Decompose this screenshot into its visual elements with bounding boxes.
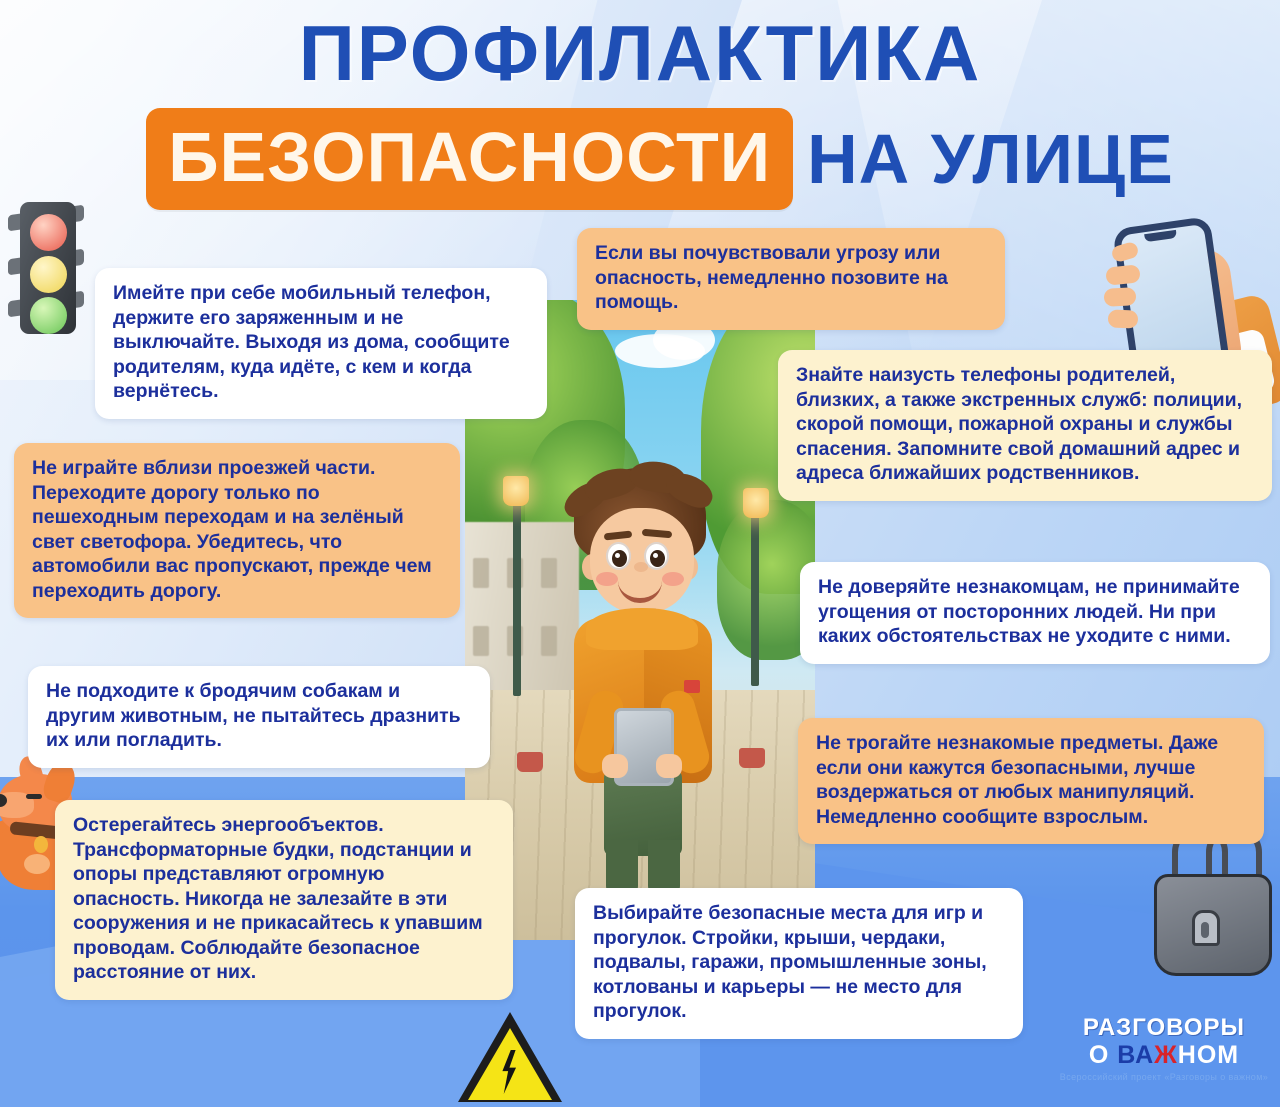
headline-line-2: БЕЗОПАСНОСТИ НА УЛИЦЕ [0, 108, 1280, 210]
street-lamp-icon [751, 496, 759, 686]
tip-text: Выбирайте безопасные места для игр и про… [593, 901, 1005, 1024]
tip-text: Не играйте вблизи проезжей части. Перехо… [32, 456, 442, 603]
hand [656, 754, 682, 778]
traffic-light-green-lamp [30, 297, 67, 334]
tip-card-strangers: Не доверяйте незнакомцам, не принимайте … [800, 562, 1270, 664]
traffic-light-red-lamp [30, 214, 67, 251]
tip-text: Знайте наизусть телефоны родителей, близ… [796, 363, 1254, 486]
nose [634, 562, 648, 572]
tip-card-emergency-numbers: Знайте наизусть телефоны родителей, близ… [778, 350, 1272, 501]
tip-text: Имейте при себе мобильный телефон, держи… [113, 281, 529, 404]
flower-pot [517, 752, 543, 772]
street-lamp-icon [513, 486, 521, 696]
traffic-light-icon [2, 196, 94, 338]
logo-word-nom: НОМ [1178, 1041, 1239, 1069]
tip-text: Не трогайте незнакомые предметы. Даже ес… [816, 731, 1246, 829]
tip-card-safe-places: Выбирайте безопасные места для игр и про… [575, 888, 1023, 1039]
electrical-hazard-icon [458, 1012, 562, 1104]
program-logo: РАЗГОВОРЫ О ВАЖНОМ Всероссийский проект … [1058, 1016, 1270, 1082]
logo-word-o: О [1089, 1041, 1117, 1069]
boy-character-illustration [556, 468, 726, 898]
headline-badge-safety: БЕЗОПАСНОСТИ [146, 108, 793, 210]
tip-card-unknown-objects: Не трогайте незнакомые предметы. Даже ес… [798, 718, 1264, 844]
headline-suffix: НА УЛИЦЕ [807, 124, 1174, 194]
handbag-icon [1144, 828, 1276, 978]
tip-text: Не доверяйте незнакомцам, не принимайте … [818, 575, 1252, 649]
cheek-blush [596, 572, 618, 586]
logo-tagline: Всероссийский проект «Разговоры о важном… [1058, 1073, 1270, 1082]
lamp-glow [503, 476, 529, 506]
headline-line-1: ПРОФИЛАКТИКА [0, 14, 1280, 92]
jacket-patch [684, 680, 700, 693]
logo-word-va: ВА [1117, 1041, 1154, 1069]
logo-word-zh: Ж [1154, 1041, 1178, 1069]
tip-text: Остерегайтесь энергообъектов. Трансформа… [73, 813, 495, 985]
tip-card-call-for-help: Если вы почувствовали угрозу или опаснос… [577, 228, 1005, 330]
logo-line-1: РАЗГОВОРЫ [1058, 1016, 1270, 1040]
cheek-blush [662, 572, 684, 586]
hand [602, 754, 628, 778]
poster-canvas: ПРОФИЛАКТИКА БЕЗОПАСНОСТИ НА УЛИЦЕ Имейт… [0, 0, 1280, 1107]
tip-text: Не подходите к бродячим собакам и другим… [46, 679, 472, 753]
logo-line-2: О ВАЖНОМ [1058, 1043, 1270, 1068]
traffic-light-yellow-lamp [30, 256, 67, 293]
poster-headline: ПРОФИЛАКТИКА БЕЗОПАСНОСТИ НА УЛИЦЕ [0, 14, 1280, 210]
tip-card-mobile-phone: Имейте при себе мобильный телефон, держи… [95, 268, 547, 419]
tip-card-stray-animals: Не подходите к бродячим собакам и другим… [28, 666, 490, 768]
tip-card-energy-objects: Остерегайтесь энергообъектов. Трансформа… [55, 800, 513, 1000]
eye [606, 542, 631, 570]
tip-card-road-crossing: Не играйте вблизи проезжей части. Перехо… [14, 443, 460, 618]
jacket-hood [586, 608, 698, 650]
lamp-glow [743, 488, 769, 518]
tip-text: Если вы почувствовали угрозу или опаснос… [595, 241, 987, 315]
flower-pot [739, 748, 765, 768]
